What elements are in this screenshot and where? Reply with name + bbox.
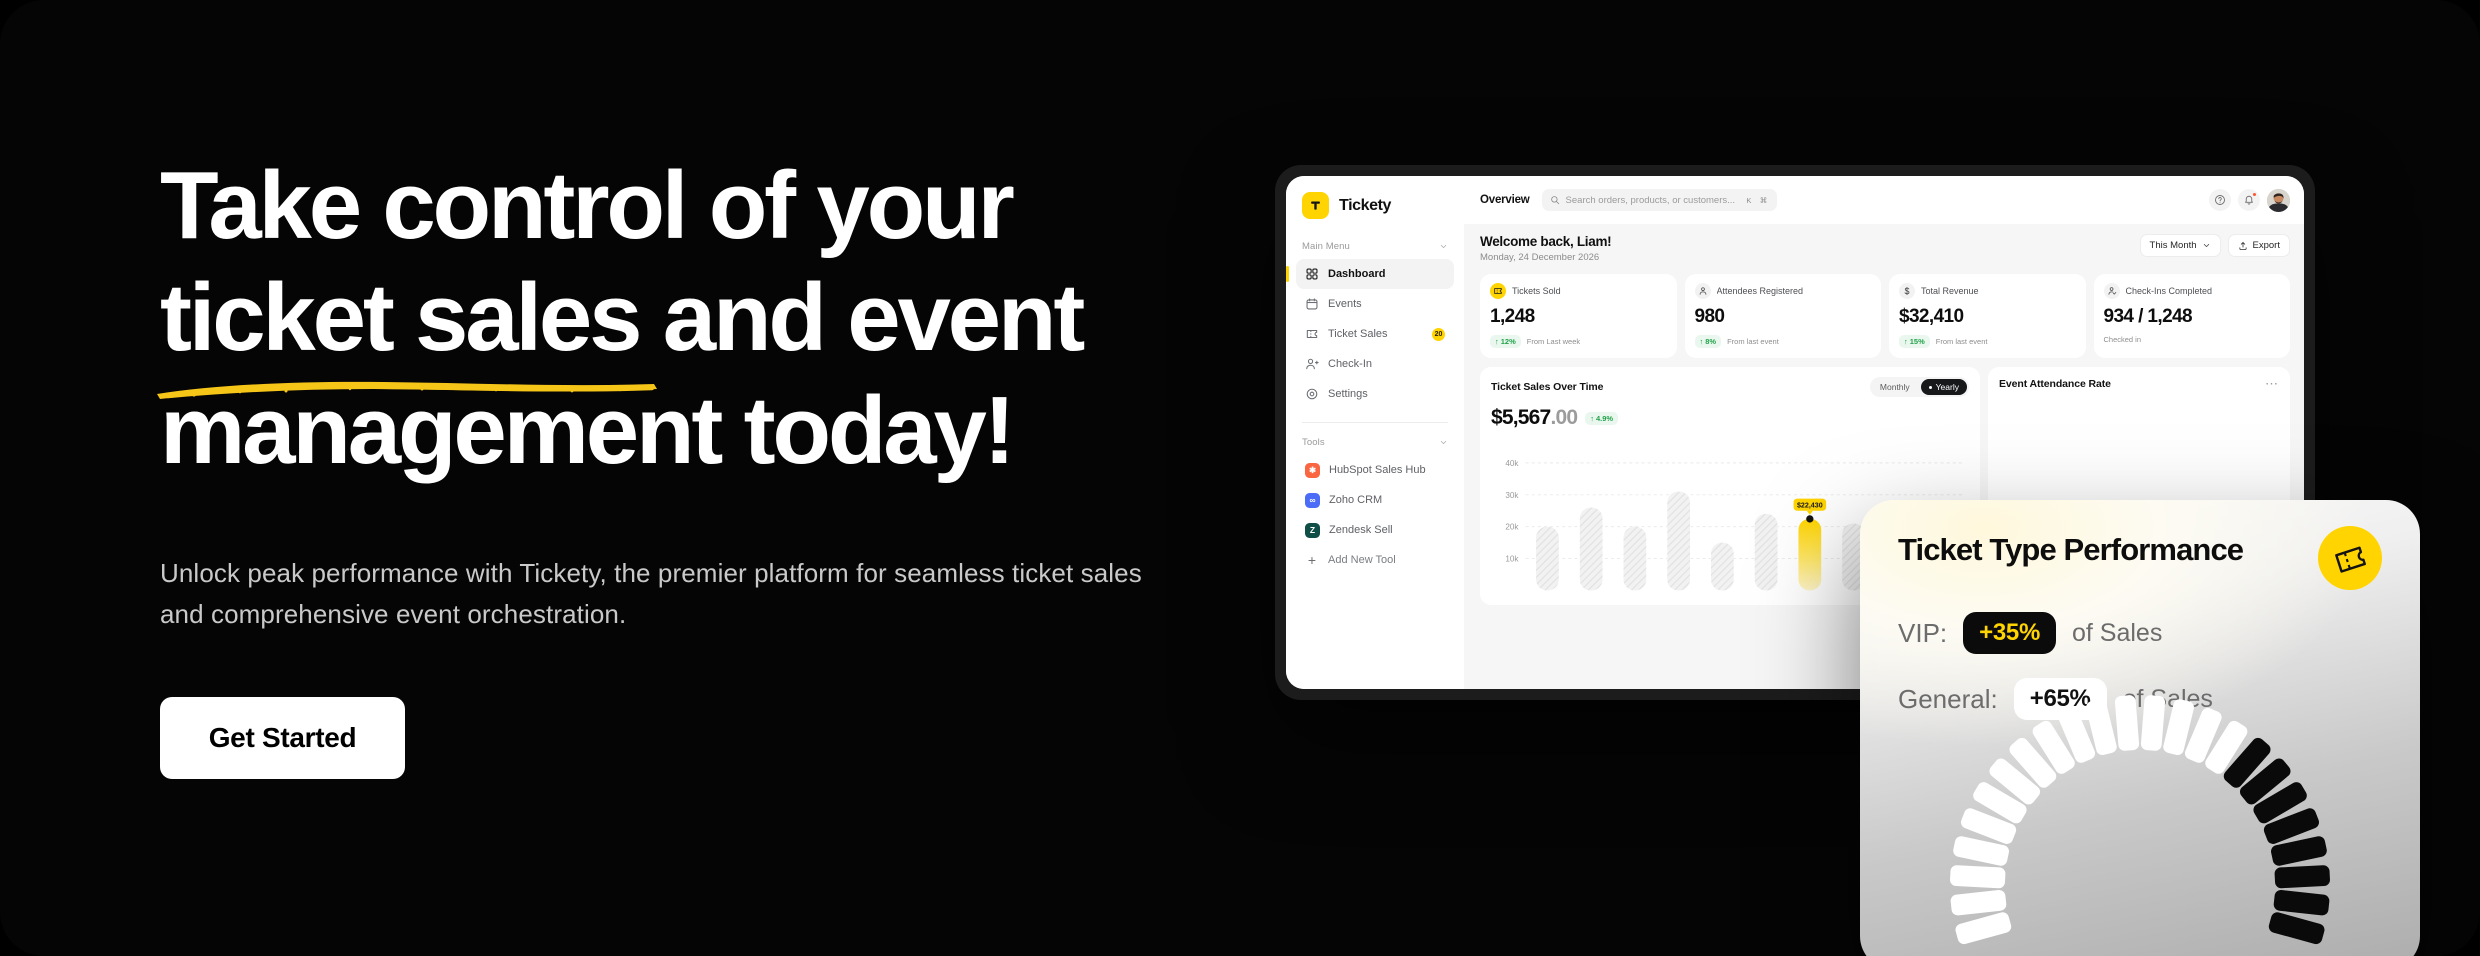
stat-card-total-revenue: Total Revenue $32,410 ↑15% From last eve…: [1889, 274, 2086, 358]
gauge-wrap: [1860, 650, 2420, 956]
welcome-block: Welcome back, Liam! Monday, 24 December …: [1480, 234, 1611, 263]
search-placeholder: Search orders, products, or customers...: [1566, 195, 1740, 206]
headline-line-2-wrap: ticket sales and event: [160, 262, 1082, 374]
bar[interactable]: [1711, 543, 1734, 591]
user-check-icon: [1305, 357, 1319, 371]
hero-section: Take control of your ticket sales and ev…: [0, 0, 2480, 956]
tickety-logo-icon: [1302, 192, 1329, 219]
sidebar-item-label: Dashboard: [1328, 268, 1385, 280]
tools-nav: ✱ HubSpot Sales Hub ∞ Zoho CRM Z Zendesk…: [1286, 455, 1464, 575]
stat-delta: ↑12%: [1490, 335, 1521, 348]
chevron-down-icon: [1439, 438, 1448, 447]
bar-highlighted[interactable]: [1798, 519, 1821, 591]
get-started-button[interactable]: Get Started: [160, 697, 405, 779]
search-icon: [1550, 195, 1560, 205]
period-toggle: Monthly Yearly: [1870, 377, 1969, 397]
tab-monthly[interactable]: Monthly: [1872, 379, 1918, 395]
vip-label: VIP:: [1898, 618, 1947, 649]
bar[interactable]: [1755, 514, 1778, 591]
calendar-icon: [1305, 297, 1319, 311]
stat-card-check-ins-completed: Check-Ins Completed 934 / 1,248 Checked …: [2094, 274, 2291, 358]
dollar-icon: [1899, 283, 1915, 299]
welcome-title: Welcome back, Liam!: [1480, 234, 1611, 249]
export-button[interactable]: Export: [2228, 234, 2290, 257]
panel-header: Event Attendance Rate ⋯: [1999, 377, 2279, 390]
stat-delta: ↑8%: [1695, 335, 1722, 348]
brand-name: Tickety: [1339, 197, 1391, 215]
search-input[interactable]: Search orders, products, or customers...…: [1542, 189, 1777, 211]
float-card-header: Ticket Type Performance: [1860, 500, 2420, 590]
page-title: Take control of your ticket sales and ev…: [160, 150, 1160, 487]
grid-icon: [1305, 267, 1319, 281]
help-icon: [2214, 194, 2226, 206]
vip-row: VIP: +35% of Sales: [1860, 612, 2420, 654]
gauge-segment-filled: [2114, 695, 2139, 751]
selected-dot-icon: [1929, 386, 1932, 389]
chevron-down-icon: [2202, 241, 2211, 250]
sidebar-item-hubspot[interactable]: ✱ HubSpot Sales Hub: [1296, 455, 1454, 485]
sidebar-item-label: Ticket Sales: [1328, 328, 1388, 340]
welcome-date: Monday, 24 December 2026: [1480, 252, 1611, 263]
sidebar-item-label: HubSpot Sales Hub: [1329, 464, 1426, 476]
stat-footer: Checked in: [2104, 335, 2281, 344]
stat-footer: ↑8% From last event: [1695, 335, 1872, 348]
ticket-type-performance-card: Ticket Type Performance VIP: +35% of Sal…: [1860, 500, 2420, 956]
bar[interactable]: [1536, 527, 1559, 591]
stat-label: Attendees Registered: [1717, 286, 1804, 296]
shortcut-key: K: [1745, 196, 1752, 205]
zoho-icon: ∞: [1305, 493, 1320, 508]
stat-card-tickets-sold: Tickets Sold 1,248 ↑12% From Last week: [1480, 274, 1677, 358]
tab-yearly[interactable]: Yearly: [1921, 379, 1967, 395]
sidebar-item-events[interactable]: Events: [1296, 289, 1454, 319]
sidebar-item-zendesk[interactable]: Z Zendesk Sell: [1296, 515, 1454, 545]
y-axis-tick: 30k: [1505, 491, 1519, 500]
ellipsis-icon[interactable]: ⋯: [2265, 377, 2279, 390]
gauge-segment-filled: [1950, 889, 2007, 916]
notification-dot: [2252, 192, 2257, 197]
avatar[interactable]: [2267, 189, 2290, 212]
date-range-label: This Month: [2150, 240, 2197, 251]
main-menu-header[interactable]: Main Menu: [1286, 241, 1464, 252]
stat-delta: ↑15%: [1899, 335, 1930, 348]
stat-note: From Last week: [1527, 337, 1580, 346]
tooltip: $22,430: [1794, 499, 1827, 515]
add-new-tool-button[interactable]: + Add New Tool: [1296, 545, 1454, 575]
float-card-title: Ticket Type Performance: [1898, 532, 2243, 568]
gauge-segment-empty: [2267, 911, 2326, 946]
sidebar-item-label: Events: [1328, 298, 1362, 310]
headline-line-3: management today!: [160, 375, 1160, 487]
tooltip-label: $22,430: [1797, 501, 1823, 509]
bar[interactable]: [1580, 508, 1603, 591]
export-icon: [2238, 241, 2248, 251]
help-button[interactable]: [2209, 189, 2231, 211]
sales-amount-value: $5,567.00: [1491, 406, 1577, 430]
gauge-segment-empty: [2274, 865, 2330, 889]
welcome-actions: This Month: [2140, 234, 2290, 257]
shortcut-mod: ⌘: [1759, 196, 1769, 205]
brand: Tickety: [1286, 192, 1464, 219]
zendesk-icon: Z: [1305, 523, 1320, 538]
sidebar-item-settings[interactable]: Settings: [1296, 379, 1454, 409]
stat-value: $32,410: [1899, 306, 2076, 328]
gauge-segment-filled: [1954, 911, 2013, 946]
ticket-icon: [1305, 327, 1319, 341]
topbar: Overview Search orders, products, or cus…: [1464, 176, 2304, 224]
stat-head: Total Revenue: [1899, 283, 2076, 299]
headline-line-2: ticket sales and event: [160, 264, 1082, 371]
add-new-tool-label: Add New Tool: [1328, 554, 1396, 566]
panel-header: Ticket Sales Over Time Monthly Yearly: [1491, 377, 1969, 397]
plus-icon: +: [1305, 553, 1319, 567]
stat-footer: ↑12% From Last week: [1490, 335, 1667, 348]
sidebar-item-label: Zoho CRM: [1329, 494, 1382, 506]
sidebar: Tickety Main Menu: [1286, 176, 1464, 689]
date-range-select[interactable]: This Month: [2140, 234, 2221, 257]
y-axis-tick: 20k: [1505, 523, 1519, 532]
bar[interactable]: [1667, 492, 1690, 591]
sidebar-badge-ticket-sales: 20: [1432, 328, 1445, 341]
stat-value: 934 / 1,248: [2104, 306, 2281, 328]
people-icon: [1695, 283, 1711, 299]
sales-amount: $5,567.00 ↑4.9%: [1491, 406, 1969, 430]
stat-head: Check-Ins Completed: [2104, 283, 2281, 299]
tools-header[interactable]: Tools: [1286, 437, 1464, 448]
main-menu-label: Main Menu: [1302, 241, 1350, 252]
ticket-icon[interactable]: [2318, 526, 2382, 590]
sidebar-item-label: Settings: [1328, 388, 1368, 400]
export-label: Export: [2253, 240, 2280, 251]
headline-line-1: Take control of your: [160, 150, 1160, 262]
stat-head: Tickets Sold: [1490, 283, 1667, 299]
sidebar-item-check-in[interactable]: Check-In: [1296, 349, 1454, 379]
stat-label: Tickets Sold: [1512, 286, 1561, 296]
user-check-icon: [2104, 283, 2120, 299]
welcome-row: Welcome back, Liam! Monday, 24 December …: [1480, 234, 2290, 263]
stat-value: 980: [1695, 306, 1872, 328]
vip-suffix: of Sales: [2072, 619, 2162, 648]
y-axis-tick: 40k: [1505, 459, 1519, 468]
stat-value: 1,248: [1490, 306, 1667, 328]
hubspot-icon: ✱: [1305, 463, 1320, 478]
hero-subtitle: Unlock peak performance with Tickety, th…: [160, 553, 1150, 635]
stat-head: Attendees Registered: [1695, 283, 1872, 299]
y-axis-tick: 10k: [1505, 555, 1519, 564]
gauge-segment-filled: [2140, 695, 2165, 751]
segmented-gauge: [1905, 650, 2375, 956]
sidebar-item-zoho[interactable]: ∞ Zoho CRM: [1296, 485, 1454, 515]
hero-copy: Take control of your ticket sales and ev…: [160, 150, 1160, 779]
notifications-button[interactable]: [2238, 189, 2260, 211]
panel-title: Ticket Sales Over Time: [1491, 381, 1603, 393]
stat-note: Checked in: [2104, 335, 2142, 344]
stat-label: Total Revenue: [1921, 286, 1979, 296]
sidebar-divider: [1302, 422, 1448, 423]
gauge-segment-filled: [1950, 865, 2006, 889]
main-nav: Dashboard Events: [1286, 259, 1464, 409]
stat-note: From last event: [1936, 337, 1988, 346]
stat-card-attendees-registered: Attendees Registered 980 ↑8% From last e…: [1685, 274, 1882, 358]
stats-row: Tickets Sold 1,248 ↑12% From Last week: [1480, 274, 2290, 358]
vip-percent-badge: +35%: [1963, 612, 2056, 654]
stat-note: From last event: [1727, 337, 1779, 346]
sidebar-item-label: Zendesk Sell: [1329, 524, 1393, 536]
chevron-down-icon: [1439, 242, 1448, 251]
topbar-actions: [2209, 189, 2290, 212]
ticket-icon: [1490, 283, 1506, 299]
data-point-marker: [1806, 515, 1813, 522]
stat-footer: ↑15% From last event: [1899, 335, 2076, 348]
sales-delta: ↑4.9%: [1585, 412, 1618, 425]
gauge-segment-empty: [2273, 889, 2330, 916]
sidebar-item-label: Check-In: [1328, 358, 1372, 370]
panel-title: Event Attendance Rate: [1999, 378, 2111, 390]
gear-icon: [1305, 387, 1319, 401]
stat-label: Check-Ins Completed: [2126, 286, 2213, 296]
bar[interactable]: [1624, 527, 1647, 591]
tools-label: Tools: [1302, 437, 1325, 448]
overview-label: Overview: [1480, 194, 1530, 206]
sidebar-item-ticket-sales[interactable]: Ticket Sales 20: [1296, 319, 1454, 349]
sidebar-item-dashboard[interactable]: Dashboard: [1296, 259, 1454, 289]
